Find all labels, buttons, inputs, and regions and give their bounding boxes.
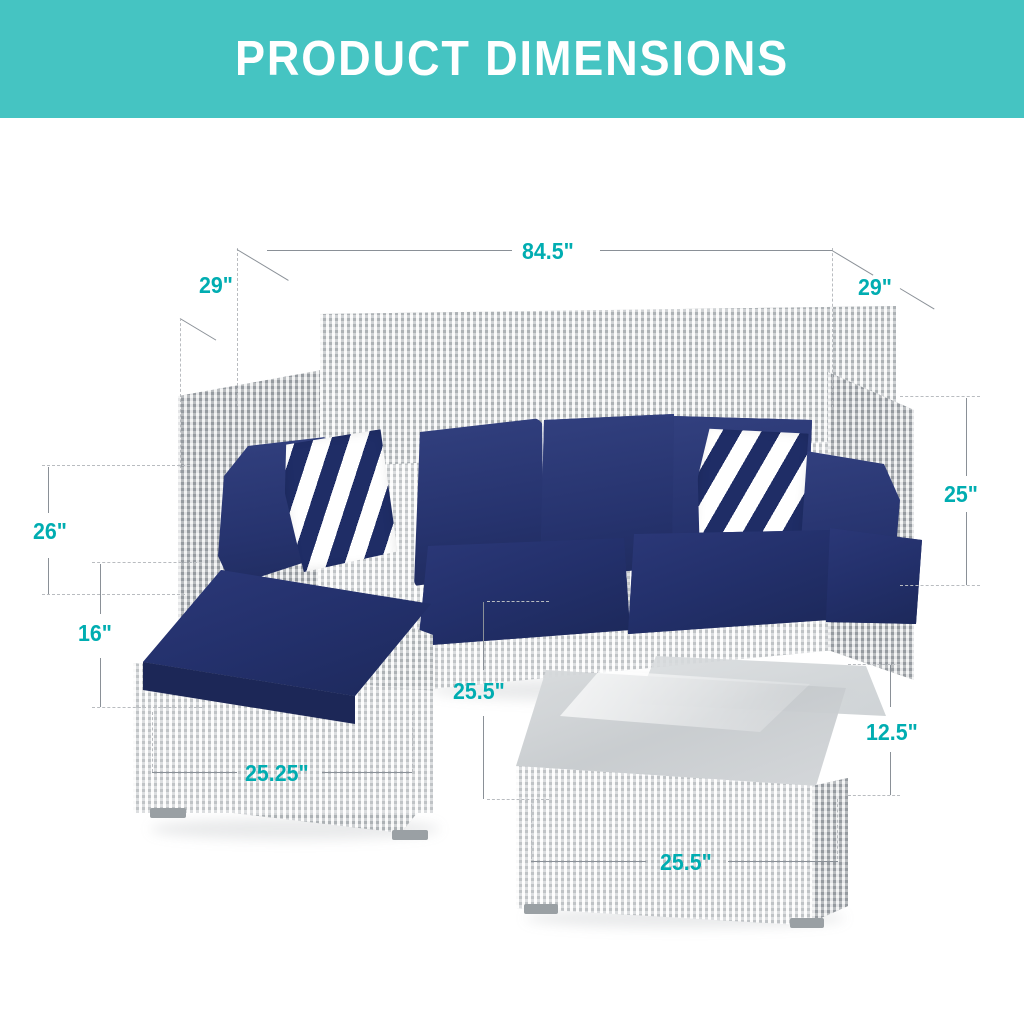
dimension-label-depth-right: 29": [858, 274, 892, 301]
guide-table-height-bottom: [848, 795, 900, 796]
table-foot-right: [790, 918, 824, 928]
measure-line-table-width-right: [728, 861, 838, 862]
measure-line-chaise-height-upper: [48, 467, 49, 513]
dimension-label-table-width: 25.5": [660, 849, 712, 876]
guide-depth-left-vertical: [180, 318, 181, 473]
dimension-label-sofa-width: 84.5": [522, 238, 574, 265]
dimension-label-depth-left: 29": [199, 272, 233, 299]
table-foot-left: [524, 904, 558, 914]
guide-table-depth-bottom: [487, 799, 549, 800]
dimension-label-chaise-height: 26": [33, 518, 67, 545]
dimension-label-chaise-seat: 16": [78, 620, 112, 647]
measure-line-chaise-width-right: [322, 772, 412, 773]
measure-line-chaise-height-lower: [48, 558, 49, 594]
measure-line-sofa-width-right: [600, 250, 832, 251]
guide-table-height-top: [848, 664, 900, 665]
product-dimensions-page: PRODUCT DIMENSIONS: [0, 0, 1024, 1024]
pillow-stripes: [279, 429, 398, 573]
guide-top-right-vertical: [832, 248, 833, 408]
measure-line-chaise-seat-lower: [100, 658, 101, 707]
guide-table-depth-top: [487, 601, 549, 602]
guide-chaise-width-left: [152, 712, 153, 772]
measure-line-table-depth-lower: [483, 716, 484, 799]
measure-line-sofa-width-left: [267, 250, 512, 251]
dimension-label-table-depth: 25.5": [453, 678, 505, 705]
guide-table-width-right: [837, 799, 838, 859]
guide-chaise-seat-bottom: [92, 707, 202, 708]
measure-line-sofa-height-lower: [966, 512, 967, 585]
guide-chaise-height-top: [42, 465, 190, 466]
measure-line-table-width-left: [531, 861, 646, 862]
coffee-table-frame-side: [812, 778, 848, 930]
striped-pillow-left: [279, 429, 398, 573]
guide-sofa-height-top: [900, 396, 980, 397]
sofa-seat-cushion-3: [826, 526, 922, 638]
dimension-label-chaise-width: 25.25": [245, 760, 309, 787]
dimension-label-table-height: 12.5": [866, 719, 918, 746]
measure-line-sofa-height-upper: [966, 398, 967, 476]
product-illustration: [0, 118, 1024, 1024]
dimension-label-sofa-height: 25": [944, 481, 978, 508]
guide-table-width-left: [531, 799, 532, 859]
measure-line-table-height-lower: [890, 752, 891, 795]
chaise-foot-right: [392, 830, 428, 840]
chaise-foot-left: [150, 808, 186, 818]
guide-chaise-height-bottom: [42, 594, 190, 595]
page-title: PRODUCT DIMENSIONS: [41, 0, 983, 118]
guide-top-left-vertical: [237, 248, 238, 406]
measure-line-chaise-seat-upper: [100, 564, 101, 614]
measure-line-chaise-width-left: [152, 772, 237, 773]
measure-line-table-depth-upper: [483, 602, 484, 670]
measure-line-table-height-upper: [890, 665, 891, 707]
guide-sofa-height-bottom: [900, 585, 980, 586]
guide-chaise-width-right: [412, 712, 413, 772]
guide-chaise-seat-top: [92, 562, 202, 563]
